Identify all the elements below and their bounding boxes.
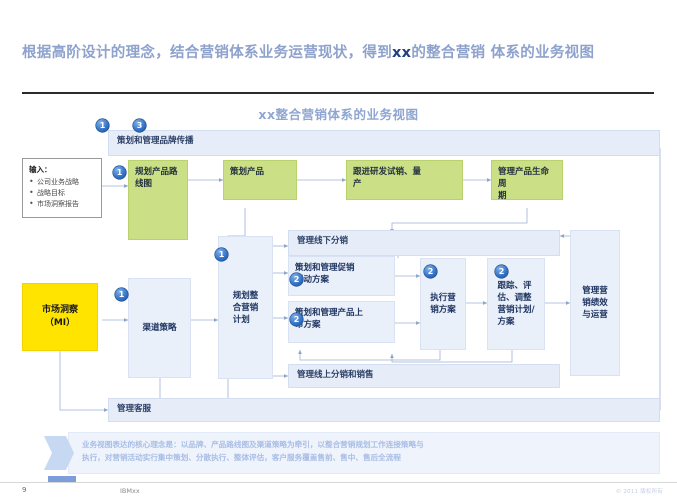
- step-badge-3: 3: [133, 119, 146, 132]
- input-callout-list: 公司业务战略 战略目标 市场洞察报告: [29, 177, 95, 210]
- list-item: 市场洞察报告: [29, 199, 95, 210]
- node-product-launch-plan[interactable]: 策划和管理产品上 市方案: [288, 301, 395, 343]
- page-title-prefix: 根据高阶设计的理念，结合营销体系业务运营现状，得到: [22, 45, 392, 61]
- step-badge-2: 2: [495, 265, 508, 278]
- page-title: 根据高阶设计的理念，结合营销体系业务运营现状，得到xx的整合营销 体系的业务视图: [22, 42, 652, 64]
- market-insight-line2: （MI）: [42, 317, 78, 330]
- conclusion-banner: 业务视图表达的核心理念是：以品牌、产品路线图及渠道策略为牵引，以整合营销规划工作…: [44, 432, 660, 474]
- band-online-distribution[interactable]: 管理线上分销和销售: [288, 364, 560, 388]
- node-rd-trial-production[interactable]: 跟进研发试销、量 产: [346, 160, 463, 200]
- node-channel-strategy[interactable]: 渠道策略: [128, 278, 191, 378]
- slide-canvas: 根据高阶设计的理念，结合营销体系业务运营现状，得到xx的整合营销 体系的业务视图…: [0, 0, 677, 500]
- footer-copyright: © 2011 版权所有: [616, 487, 663, 495]
- list-item: 公司业务战略: [29, 177, 95, 188]
- input-callout: 输入： 公司业务战略 战略目标 市场洞察报告: [22, 158, 102, 218]
- conclusion-arrow-icon: [44, 432, 74, 474]
- node-promotion-activity-plan[interactable]: 策划和管理促销 活动方案: [288, 256, 395, 296]
- step-badge-2: 2: [290, 313, 303, 326]
- step-badge-1: 1: [96, 119, 109, 132]
- step-badge-2: 2: [424, 265, 437, 278]
- conclusion-line-2: 执行，对营销活动实行集中策划、分散执行、整体评估，客户服务覆盖售前、售中、售后全…: [82, 451, 648, 464]
- conclusion-text: 业务视图表达的核心理念是：以品牌、产品路线图及渠道策略为牵引，以整合营销规划工作…: [82, 438, 648, 464]
- list-item: 战略目标: [29, 188, 95, 199]
- footer-brand: IBMxx: [120, 487, 140, 495]
- conclusion-line-1: 业务视图表达的核心理念是：以品牌、产品路线图及渠道策略为牵引，以整合营销规划工作…: [82, 438, 648, 451]
- band-offline-distribution[interactable]: 管理线下分销: [288, 230, 560, 256]
- page-number: 9: [22, 486, 26, 494]
- input-callout-heading: 输入：: [29, 164, 95, 175]
- step-badge-2: 2: [290, 273, 303, 286]
- title-divider: [22, 92, 654, 94]
- band-customer-service[interactable]: 管理客服: [108, 398, 660, 422]
- page-title-suffix: 的整合营销 体系的业务视图: [411, 45, 594, 61]
- market-insight-box[interactable]: 市场洞察 （MI）: [22, 283, 98, 351]
- node-marketing-performance-ops[interactable]: 管理营 销绩效 与运营: [570, 230, 620, 376]
- step-badge-1: 1: [215, 248, 228, 261]
- band-brand-communication[interactable]: 策划和管理品牌传播: [108, 130, 660, 156]
- page-title-highlight: xx: [392, 45, 411, 61]
- node-product-roadmap[interactable]: 规划产品路 线图: [128, 160, 188, 240]
- step-badge-1: 1: [115, 288, 128, 301]
- market-insight-line1: 市场洞察: [42, 304, 78, 317]
- step-badge-1: 1: [113, 166, 126, 179]
- node-plan-product[interactable]: 策划产品: [223, 160, 297, 200]
- business-view-diagram: 策划和管理品牌传播 输入： 公司业务战略 战略目标 市场洞察报告 市场洞察 （M…: [0, 118, 677, 428]
- node-product-lifecycle[interactable]: 管理产品生命周 期: [491, 160, 563, 200]
- footer-divider: [0, 482, 677, 483]
